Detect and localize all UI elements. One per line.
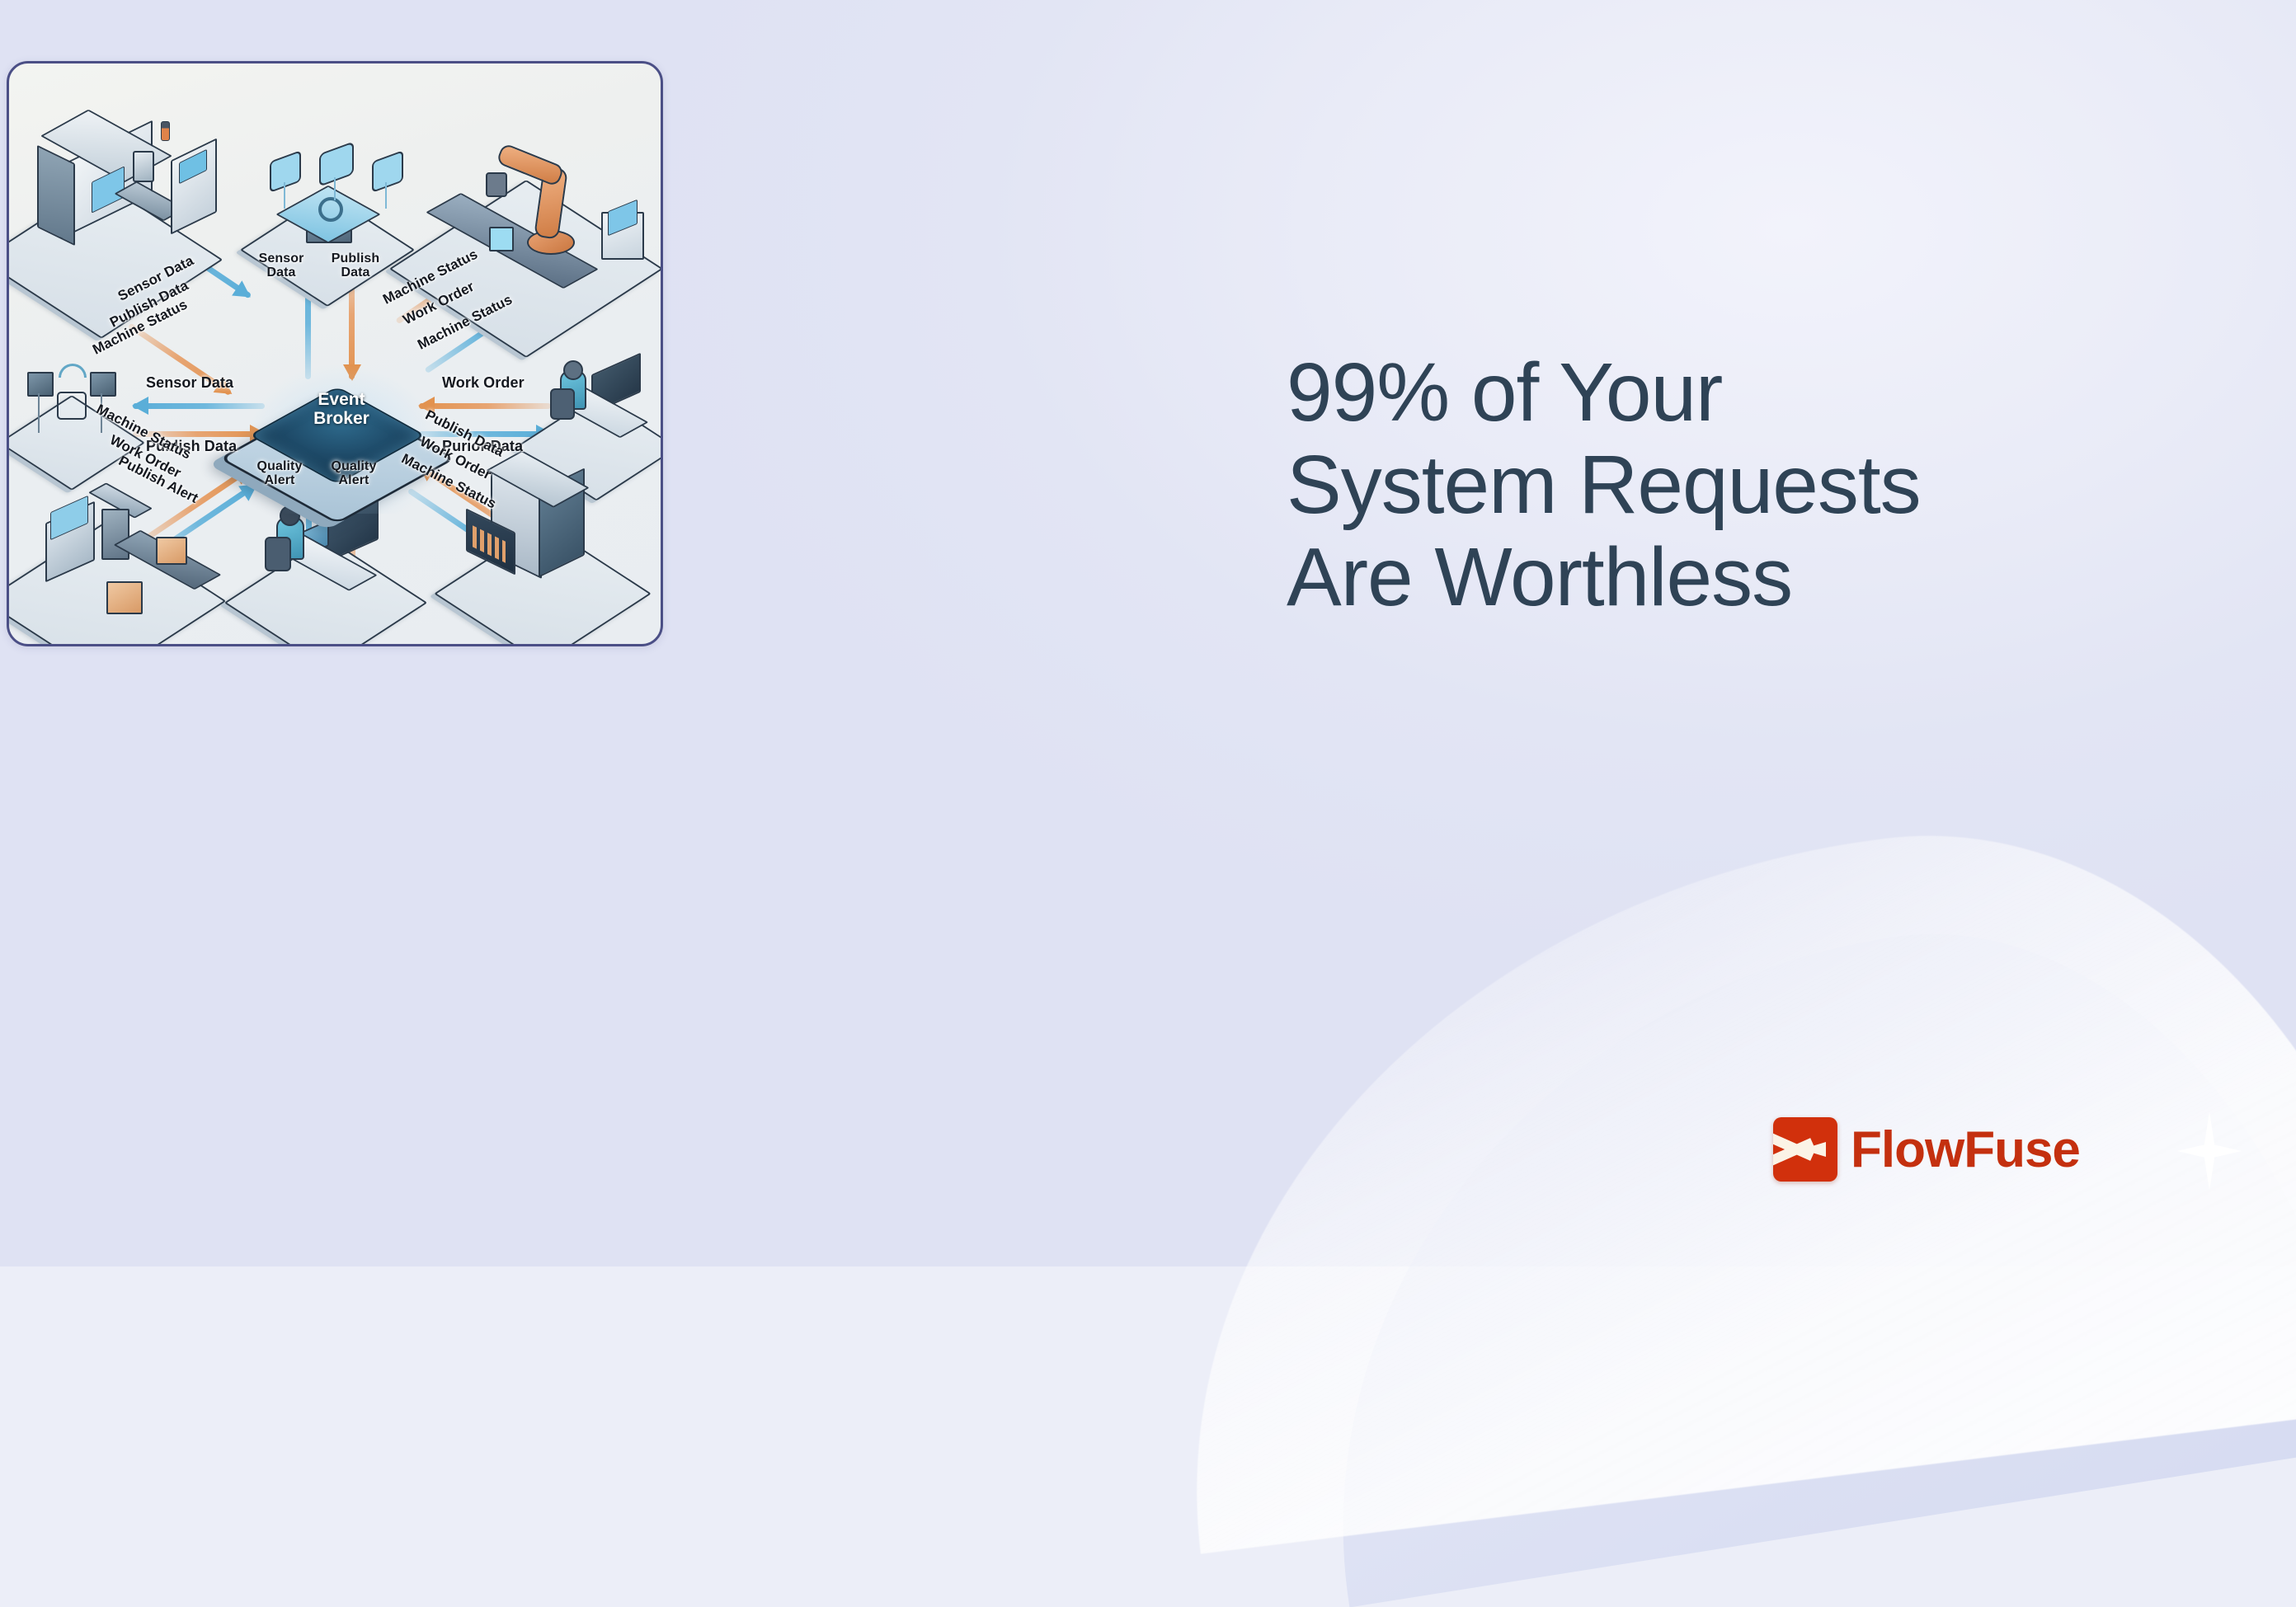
- background-swoosh-back: [1259, 876, 2296, 1607]
- network-chip-icon: [372, 150, 403, 193]
- sensor-hub: [57, 392, 87, 420]
- operator-chair: [550, 388, 575, 420]
- gear-icon: [318, 197, 343, 222]
- node-server-rack: [454, 459, 644, 624]
- sparkle-icon: [2177, 1111, 2242, 1191]
- gateway-link-left: [284, 182, 285, 209]
- label-prior-data-right: Purior Data: [442, 439, 523, 454]
- sensor-post-right: [101, 393, 102, 433]
- brand-lockup: FlowFuse: [1773, 1117, 2080, 1182]
- engineer-head: [280, 505, 300, 526]
- node-iot-gateway: [256, 146, 421, 278]
- operator-head: [563, 360, 583, 380]
- carton-on-floor: [106, 581, 143, 614]
- sensor-cube-left: [27, 372, 54, 397]
- arrow-publish-data-left: [133, 425, 265, 443]
- arrow-sensor-data-left: [133, 397, 265, 415]
- gateway-link-right: [385, 182, 387, 209]
- headline-line-3: Are Worthless: [1287, 531, 2260, 623]
- headline-line-2: System Requests: [1287, 439, 2260, 531]
- carton-on-belt: [156, 537, 187, 565]
- brand-name: FlowFuse: [1851, 1121, 2080, 1179]
- conveyor-part: [489, 227, 514, 251]
- cnc-hmi-panel: [171, 138, 217, 234]
- slide-canvas: Event Broker Sensor Data Publish Data Ma…: [0, 0, 2296, 1266]
- label-work-order-right: Work Order: [442, 375, 525, 391]
- sensor-post-left: [38, 393, 40, 433]
- wifi-icon: [59, 364, 87, 378]
- packaging-column: [101, 509, 129, 560]
- headline-line-1: 99% of Your: [1287, 346, 2260, 439]
- engineer-chair: [265, 537, 291, 571]
- node-packaging-line: [16, 476, 222, 632]
- wifi-chip-icon: [319, 141, 354, 186]
- sensor-chip-icon: [270, 150, 301, 193]
- label-sensor-data-left: Sensor Data: [146, 375, 233, 391]
- cnc-spindle: [133, 151, 154, 182]
- gateway-link-center: [334, 177, 336, 200]
- arrow-work-order-right: [419, 397, 551, 415]
- robot-gripper: [486, 172, 507, 197]
- architecture-diagram: Event Broker Sensor Data Publish Data Ma…: [9, 63, 661, 644]
- node-iot-sensors: [14, 359, 146, 474]
- diagram-card: Event Broker Sensor Data Publish Data Ma…: [7, 61, 663, 646]
- event-broker-hub: Event Broker: [267, 370, 416, 479]
- flowfuse-logo-icon: [1773, 1117, 1837, 1182]
- page-title: 99% of Your System Requests Are Worthles…: [1287, 346, 2260, 623]
- cnc-status-light: [161, 121, 170, 141]
- background-swoosh-front: [1124, 781, 2296, 1553]
- sensor-cube-right: [90, 372, 116, 397]
- label-publish-data-left: Publish Data: [146, 439, 237, 454]
- node-operator-desk: [537, 359, 663, 474]
- node-robot-arm: [421, 129, 661, 307]
- node-cnc-machine: [17, 113, 240, 286]
